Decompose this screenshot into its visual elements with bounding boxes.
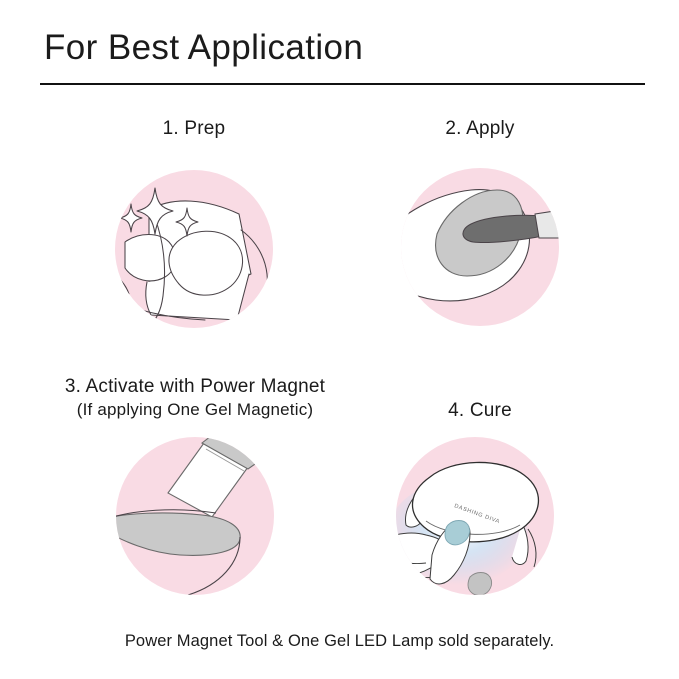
- page-title: For Best Application: [44, 28, 363, 68]
- step-4-label: 4. Cure: [400, 400, 560, 422]
- title-divider: [40, 83, 645, 85]
- step-4-illustration: DASHING DIVA: [396, 437, 554, 595]
- step-2-illustration: [401, 168, 559, 326]
- step-1-illustration: [115, 170, 273, 328]
- step-1-label: 1. Prep: [114, 118, 274, 140]
- brush-handle: [535, 210, 563, 238]
- step-3-label: 3. Activate with Power Magnet (If applyi…: [35, 375, 355, 421]
- step-3-label-sub: (If applying One Gel Magnetic): [35, 399, 355, 421]
- nail-plate: [102, 513, 240, 555]
- step-2-label: 2. Apply: [400, 118, 560, 140]
- application-instructions-graphic: For Best Application 1. Prep: [0, 0, 679, 679]
- footnote: Power Magnet Tool & One Gel LED Lamp sol…: [0, 632, 679, 651]
- step-3-illustration: [116, 437, 274, 595]
- step-3-label-main: 3. Activate with Power Magnet: [65, 376, 325, 397]
